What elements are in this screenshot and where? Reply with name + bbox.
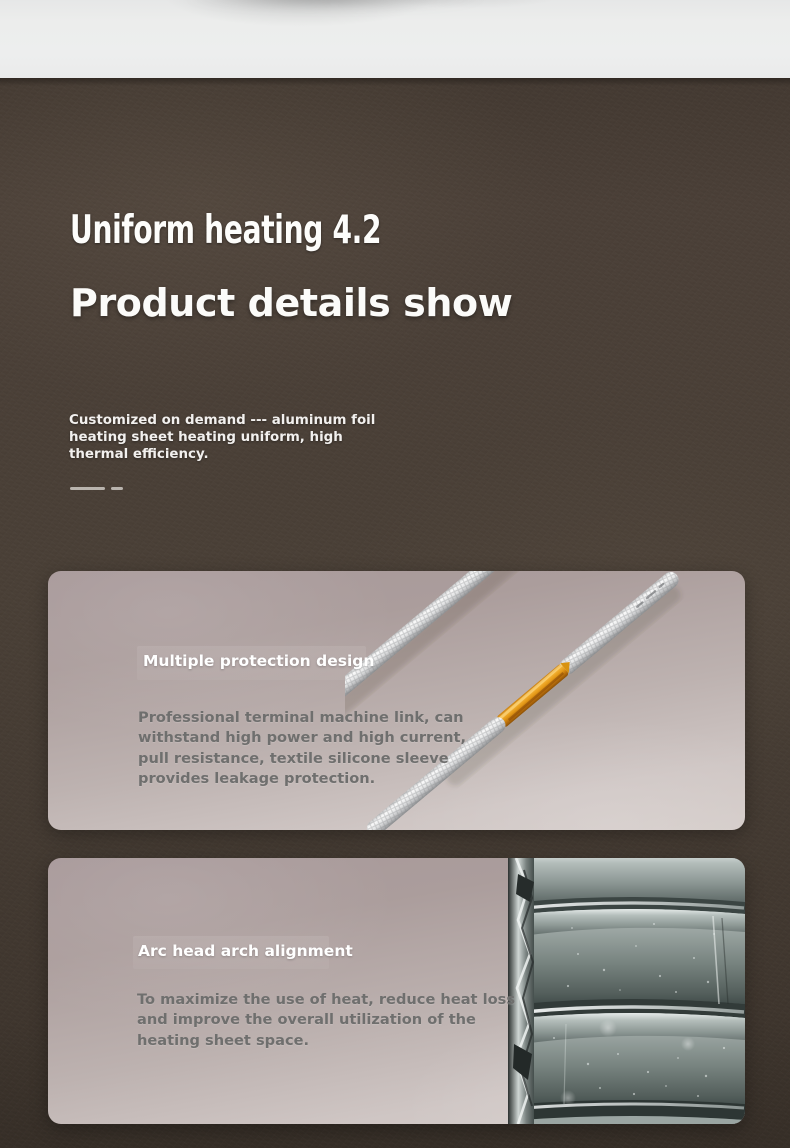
product-detail-page: Uniform heating 4.2 Product details show… [0,0,790,1148]
page-title: Product details show [70,278,512,328]
braided-silicone-cable-image [345,571,745,830]
card-title: Arc head arch alignment [138,941,353,961]
product-drop-shadow [120,0,550,14]
top-product-photo-strip [0,0,790,78]
card-title: Multiple protection design [143,651,374,671]
divider [70,486,190,492]
feature-card-multiple-protection[interactable]: Multiple protection design Professional … [48,571,745,830]
card-body-text: To maximize the use of heat, reduce heat… [137,990,537,1051]
hero-kicker: Uniform heating 4.2 [70,209,381,253]
feature-card-arc-head-alignment[interactable]: Arc head arch alignment To maximize the … [48,858,745,1124]
hero-top-edge-shade [0,78,790,86]
divider-short-dash [111,487,123,490]
card-body-text: Professional terminal machine link, can … [138,708,488,790]
divider-long-dash [70,487,105,490]
aluminum-foil-heating-sheet-image [508,858,745,1124]
hero-description: Customized on demand --- aluminum foil h… [69,412,379,464]
